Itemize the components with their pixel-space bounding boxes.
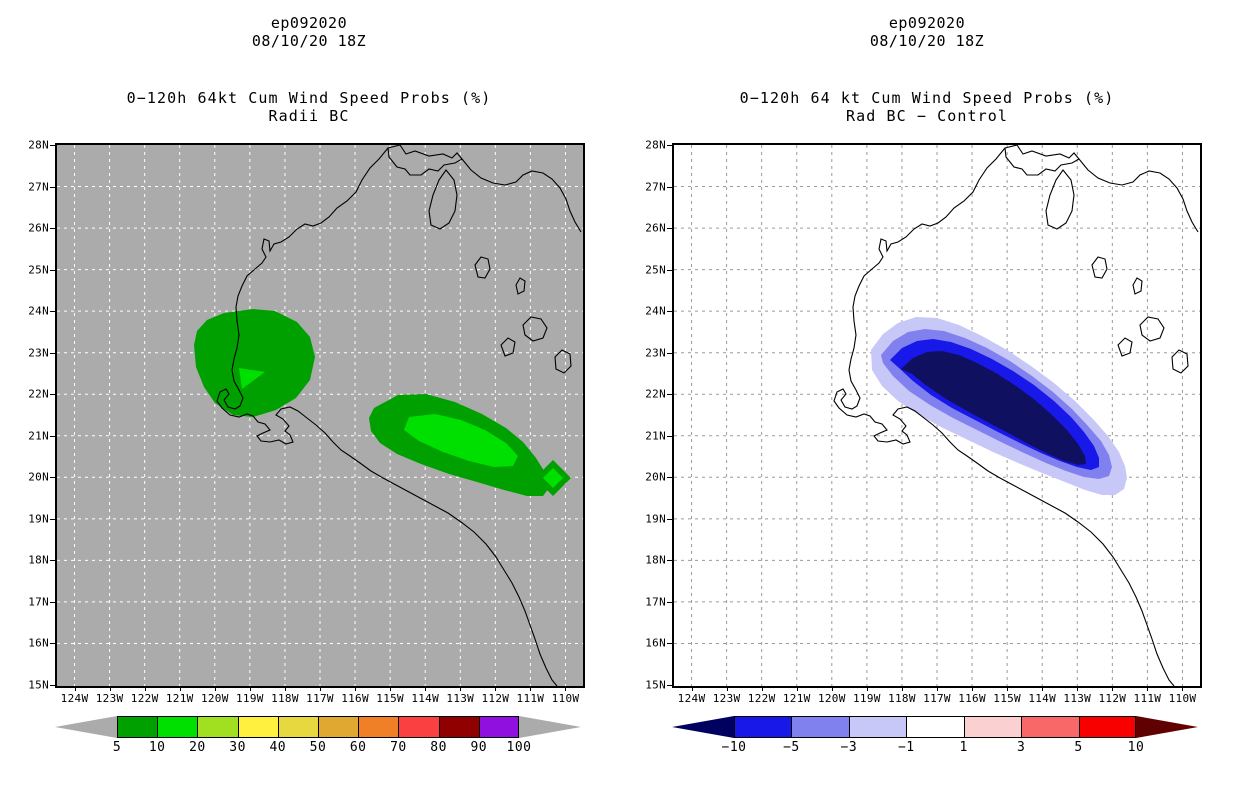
right-chart-title: 0−120h 64 kt Cum Wind Speed Probs (%)	[618, 89, 1236, 107]
x-tick-label: 118W	[888, 692, 916, 705]
x-tick-label: 111W	[1134, 692, 1162, 705]
x-tick-mark	[1112, 686, 1113, 691]
x-tick-mark	[1147, 686, 1148, 691]
right-map-svg	[674, 145, 1200, 686]
x-tick-label: 124W	[678, 692, 706, 705]
left-chart-title-block: 0−120h 64kt Cum Wind Speed Probs (%) Rad…	[0, 89, 618, 125]
colorbar-segment[interactable]	[117, 716, 157, 738]
x-tick-mark	[75, 686, 76, 691]
colorbar-segment[interactable]	[358, 716, 398, 738]
y-tick-label: 17N	[28, 595, 49, 608]
y-tick-mark	[50, 685, 55, 686]
left-datetime: 08/10/20 18Z	[0, 32, 618, 50]
colorbar-tick-label: 40	[269, 740, 286, 755]
y-tick-label: 20N	[645, 471, 666, 484]
x-tick-mark	[180, 686, 181, 691]
y-tick-mark	[50, 560, 55, 561]
right-datetime: 08/10/20 18Z	[618, 32, 1236, 50]
colorbar-under-arrow	[55, 716, 117, 738]
colorbar-tick-label: 60	[350, 740, 367, 755]
y-tick-label: 28N	[645, 139, 666, 152]
y-tick-label: 25N	[645, 263, 666, 276]
y-tick-label: 27N	[645, 180, 666, 193]
y-tick-label: 16N	[645, 637, 666, 650]
colorbar-tick-label: 30	[229, 740, 246, 755]
x-tick-label: 116W	[958, 692, 986, 705]
x-tick-mark	[215, 686, 216, 691]
y-tick-label: 17N	[645, 595, 666, 608]
colorbar-tick-label: 5	[1074, 740, 1082, 755]
y-tick-label: 22N	[28, 388, 49, 401]
x-tick-mark	[1077, 686, 1078, 691]
y-tick-mark	[667, 353, 672, 354]
colorbar-tick-label: 100	[507, 740, 532, 755]
figure-root: ep092020 08/10/20 18Z 0−120h 64kt Cum Wi…	[0, 0, 1236, 800]
left-contour-shapes	[194, 309, 571, 496]
colorbar-tick-label: 5	[113, 740, 121, 755]
x-tick-label: 114W	[411, 692, 439, 705]
x-tick-mark	[495, 686, 496, 691]
left-map-canvas[interactable]	[55, 143, 585, 688]
colorbar-over-arrow	[1136, 716, 1198, 738]
y-tick-label: 26N	[28, 222, 49, 235]
x-tick-label: 113W	[1063, 692, 1091, 705]
y-tick-label: 28N	[28, 139, 49, 152]
left-storm-id: ep092020	[0, 14, 618, 32]
y-tick-label: 26N	[645, 222, 666, 235]
x-tick-mark	[902, 686, 903, 691]
colorbar-tick-label: 80	[430, 740, 447, 755]
x-tick-label: 123W	[96, 692, 124, 705]
colorbar-segment[interactable]	[1021, 716, 1078, 738]
colorbar-tick-label: −1	[898, 740, 915, 755]
right-map-canvas[interactable]	[672, 143, 1202, 688]
x-tick-mark	[937, 686, 938, 691]
y-tick-label: 27N	[28, 180, 49, 193]
right-chart-subtitle: Rad BC − Control	[618, 107, 1236, 125]
x-tick-label: 121W	[783, 692, 811, 705]
y-tick-mark	[50, 436, 55, 437]
y-tick-mark	[667, 643, 672, 644]
y-tick-label: 25N	[28, 263, 49, 276]
x-tick-label: 111W	[517, 692, 545, 705]
left-chart-title: 0−120h 64kt Cum Wind Speed Probs (%)	[0, 89, 618, 107]
panel-radii-bc: ep092020 08/10/20 18Z 0−120h 64kt Cum Wi…	[0, 0, 618, 800]
y-tick-mark	[50, 353, 55, 354]
x-tick-label: 113W	[446, 692, 474, 705]
y-tick-mark	[667, 560, 672, 561]
x-tick-mark	[797, 686, 798, 691]
colorbar-segment[interactable]	[849, 716, 906, 738]
x-tick-mark	[530, 686, 531, 691]
y-tick-mark	[667, 436, 672, 437]
left-map-svg	[57, 145, 583, 686]
x-tick-label: 123W	[713, 692, 741, 705]
colorbar-segments[interactable]	[734, 716, 1136, 738]
y-tick-label: 23N	[645, 346, 666, 359]
colorbar-segment[interactable]	[398, 716, 438, 738]
colorbar-segment[interactable]	[278, 716, 318, 738]
right-storm-id: ep092020	[618, 14, 1236, 32]
x-tick-mark	[110, 686, 111, 691]
y-tick-mark	[667, 519, 672, 520]
x-tick-mark	[320, 686, 321, 691]
y-tick-mark	[50, 187, 55, 188]
colorbar-segments[interactable]	[117, 716, 519, 738]
x-tick-label: 115W	[376, 692, 404, 705]
y-tick-label: 21N	[645, 429, 666, 442]
y-tick-mark	[667, 228, 672, 229]
x-tick-label: 114W	[1028, 692, 1056, 705]
colorbar-segment[interactable]	[318, 716, 358, 738]
colorbar-tick-label: 20	[189, 740, 206, 755]
x-tick-mark	[250, 686, 251, 691]
y-tick-label: 22N	[645, 388, 666, 401]
y-tick-label: 19N	[28, 512, 49, 525]
y-tick-label: 20N	[28, 471, 49, 484]
y-tick-mark	[667, 394, 672, 395]
left-gridlines	[57, 145, 583, 686]
x-tick-label: 119W	[236, 692, 264, 705]
x-tick-label: 119W	[853, 692, 881, 705]
y-tick-label: 24N	[28, 305, 49, 318]
y-tick-mark	[50, 228, 55, 229]
y-tick-label: 15N	[645, 679, 666, 692]
x-tick-mark	[832, 686, 833, 691]
colorbar-tick-label: −5	[783, 740, 800, 755]
colorbar-segment[interactable]	[791, 716, 848, 738]
colorbar-segment[interactable]	[734, 716, 791, 738]
colorbar-segment[interactable]	[1079, 716, 1136, 738]
y-tick-mark	[50, 145, 55, 146]
y-tick-mark	[50, 643, 55, 644]
x-tick-mark	[425, 686, 426, 691]
colorbar-segment[interactable]	[906, 716, 963, 738]
y-tick-label: 23N	[28, 346, 49, 359]
panel-rad-bc-control: ep092020 08/10/20 18Z 0−120h 64 kt Cum W…	[618, 0, 1236, 800]
colorbar-tick-label: 90	[470, 740, 487, 755]
contour-5pct-nw	[194, 309, 315, 417]
colorbar-segment[interactable]	[238, 716, 278, 738]
y-tick-mark	[667, 270, 672, 271]
y-tick-label: 18N	[28, 554, 49, 567]
y-tick-label: 21N	[28, 429, 49, 442]
y-tick-mark	[667, 187, 672, 188]
x-tick-mark	[355, 686, 356, 691]
x-tick-mark	[1182, 686, 1183, 691]
y-tick-mark	[667, 311, 672, 312]
y-tick-mark	[667, 477, 672, 478]
x-tick-mark	[727, 686, 728, 691]
y-tick-mark	[50, 270, 55, 271]
y-tick-mark	[667, 145, 672, 146]
x-tick-label: 117W	[923, 692, 951, 705]
colorbar-tick-label: 1	[960, 740, 968, 755]
x-tick-label: 124W	[61, 692, 89, 705]
x-tick-label: 115W	[993, 692, 1021, 705]
left-chart-subtitle: Radii BC	[0, 107, 618, 125]
x-tick-label: 112W	[1098, 692, 1126, 705]
y-tick-mark	[50, 602, 55, 603]
colorbar-tick-label: 50	[310, 740, 327, 755]
x-tick-mark	[145, 686, 146, 691]
y-tick-mark	[50, 394, 55, 395]
left-title-block: ep092020 08/10/20 18Z	[0, 14, 618, 50]
x-tick-label: 110W	[1169, 692, 1197, 705]
x-tick-mark	[692, 686, 693, 691]
x-tick-mark	[1042, 686, 1043, 691]
colorbar-tick-label: 10	[149, 740, 166, 755]
x-tick-label: 112W	[481, 692, 509, 705]
right-contour-shapes	[871, 317, 1127, 495]
colorbar-segment[interactable]	[964, 716, 1021, 738]
x-tick-label: 121W	[166, 692, 194, 705]
x-tick-mark	[762, 686, 763, 691]
right-chart-title-block: 0−120h 64 kt Cum Wind Speed Probs (%) Ra…	[618, 89, 1236, 125]
colorbar-tick-label: 70	[390, 740, 407, 755]
colorbar-segment[interactable]	[157, 716, 197, 738]
y-tick-label: 15N	[28, 679, 49, 692]
x-tick-label: 110W	[552, 692, 580, 705]
y-tick-mark	[50, 311, 55, 312]
y-tick-label: 19N	[645, 512, 666, 525]
y-tick-mark	[667, 602, 672, 603]
colorbar-tick-label: −3	[841, 740, 858, 755]
x-tick-label: 118W	[271, 692, 299, 705]
x-tick-mark	[867, 686, 868, 691]
x-tick-mark	[1007, 686, 1008, 691]
y-tick-label: 16N	[28, 637, 49, 650]
x-tick-mark	[972, 686, 973, 691]
colorbar-tick-label: −10	[722, 740, 747, 755]
colorbar-under-arrow	[672, 716, 734, 738]
x-tick-mark	[285, 686, 286, 691]
x-tick-label: 117W	[306, 692, 334, 705]
x-tick-label: 122W	[131, 692, 159, 705]
y-tick-mark	[50, 477, 55, 478]
colorbar-segment[interactable]	[197, 716, 237, 738]
x-tick-label: 116W	[341, 692, 369, 705]
colorbar-segment[interactable]	[439, 716, 479, 738]
colorbar-over-arrow	[519, 716, 581, 738]
colorbar-tick-label: 10	[1128, 740, 1145, 755]
colorbar-tick-label: 3	[1017, 740, 1025, 755]
y-tick-mark	[667, 685, 672, 686]
y-tick-label: 24N	[645, 305, 666, 318]
x-tick-mark	[460, 686, 461, 691]
x-tick-label: 120W	[201, 692, 229, 705]
x-tick-mark	[565, 686, 566, 691]
x-tick-label: 122W	[748, 692, 776, 705]
x-tick-mark	[390, 686, 391, 691]
x-tick-label: 120W	[818, 692, 846, 705]
right-title-block: ep092020 08/10/20 18Z	[618, 14, 1236, 50]
colorbar-segment[interactable]	[479, 716, 519, 738]
y-tick-label: 18N	[645, 554, 666, 567]
y-tick-mark	[50, 519, 55, 520]
